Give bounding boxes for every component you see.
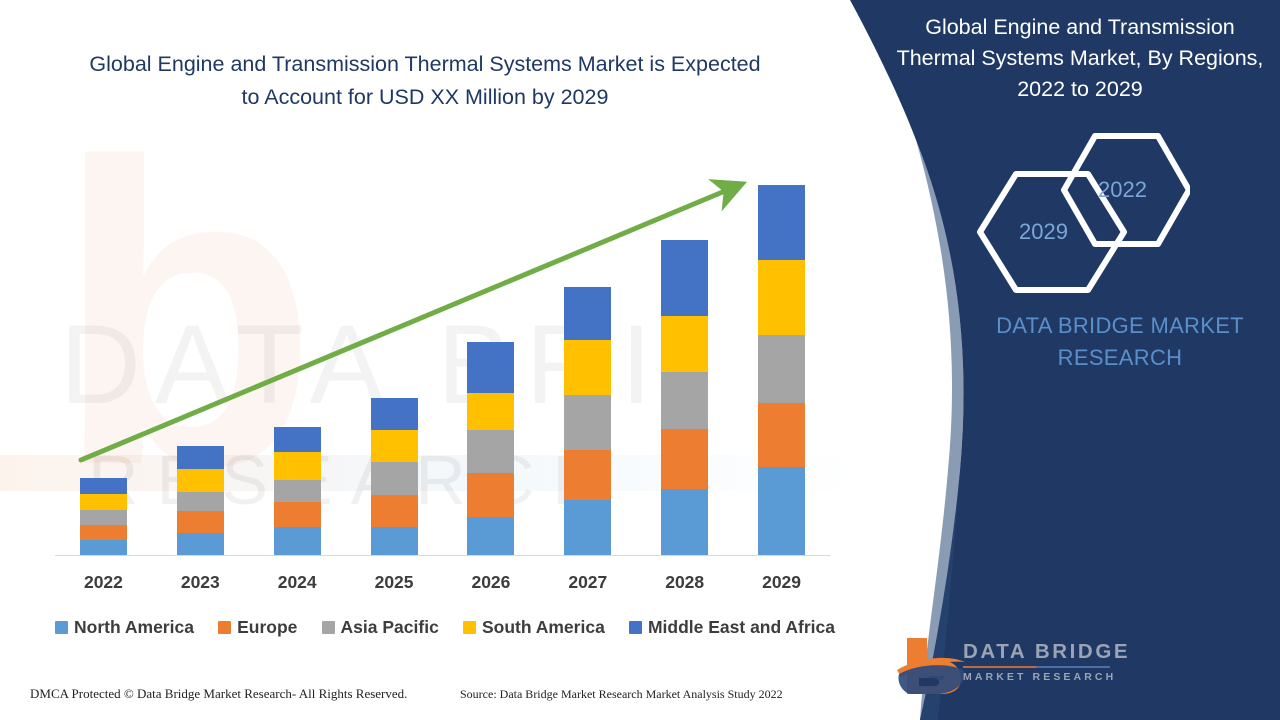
legend-label: South America [482,617,605,638]
logo-wordmark: DATA BRIDGE MARKET RESEARCH [963,641,1163,683]
x-axis-label-2026: 2026 [451,572,531,593]
brand-name-line1: DATA BRIDGE MARKET [960,310,1280,342]
logo-subtitle: MARKET RESEARCH [963,671,1163,683]
legend-label: Europe [237,617,297,638]
year-hexagons: 2022 2029 [975,128,1190,293]
legend-label: Asia Pacific [341,617,439,638]
legend-swatch-icon [463,621,476,634]
legend-item[interactable]: South America [463,617,605,638]
x-axis-labels: 20222023202420252026202720282029 [55,572,830,598]
chart-legend: North AmericaEuropeAsia PacificSouth Ame… [55,614,835,640]
legend-item[interactable]: Europe [218,617,297,638]
x-axis-label-2029: 2029 [742,572,822,593]
logo-divider [963,666,1110,668]
x-axis-label-2025: 2025 [354,572,434,593]
legend-item[interactable]: Asia Pacific [322,617,439,638]
panel-title: Global Engine and Transmission Thermal S… [890,12,1270,105]
infographic-canvas: b DATA BRI RESEARCH Global Engine and Tr… [0,0,1280,720]
legend-label: Middle East and Africa [648,617,835,638]
legend-swatch-icon [55,621,68,634]
copyright-notice: DMCA Protected © Data Bridge Market Rese… [30,686,407,702]
hexagon-year-2022: 2022 [1098,177,1147,203]
stacked-bar-chart [55,150,830,556]
legend-swatch-icon [629,621,642,634]
x-axis-label-2023: 2023 [160,572,240,593]
source-note: Source: Data Bridge Market Research Mark… [460,687,783,702]
x-axis-label-2022: 2022 [63,572,143,593]
legend-label: North America [74,617,194,638]
legend-item[interactable]: North America [55,617,194,638]
x-axis-label-2027: 2027 [548,572,628,593]
brand-name-line2: RESEARCH [960,342,1280,374]
logo-name: DATA BRIDGE [963,641,1163,663]
hexagon-year-2029: 2029 [1019,219,1068,245]
page-title: Global Engine and Transmission Thermal S… [80,48,770,114]
brand-name: DATA BRIDGE MARKET RESEARCH [960,310,1280,374]
hexagon-outlines-icon [975,128,1190,293]
legend-swatch-icon [218,621,231,634]
legend-item[interactable]: Middle East and Africa [629,617,835,638]
growth-trend-arrow-icon [55,150,830,556]
x-axis-label-2024: 2024 [257,572,337,593]
legend-swatch-icon [322,621,335,634]
x-axis-label-2028: 2028 [645,572,725,593]
